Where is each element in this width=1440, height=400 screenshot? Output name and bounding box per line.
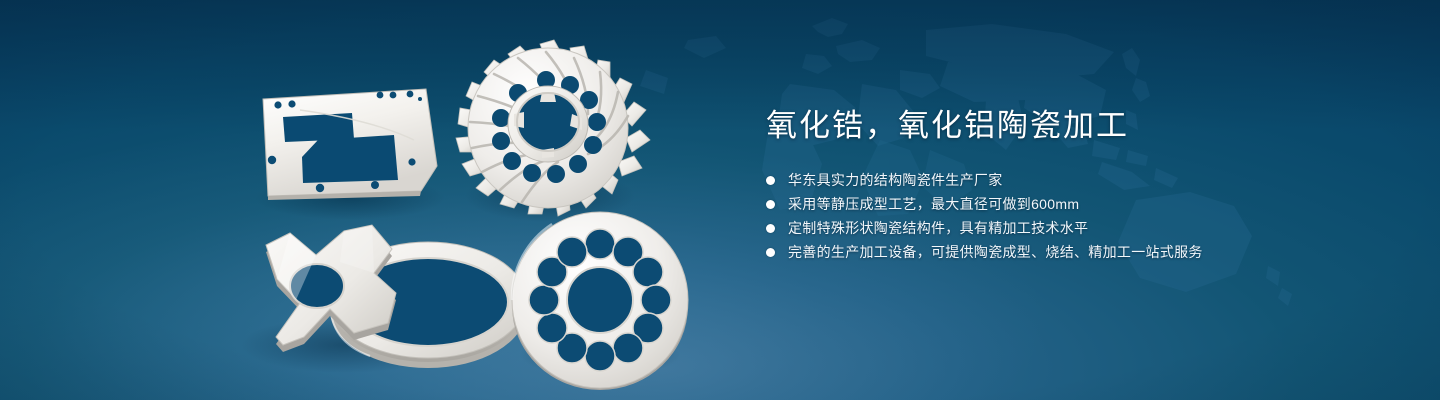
ceramic-plate-part <box>263 89 437 200</box>
bullet-dot-icon <box>766 176 775 185</box>
bullet-dot-icon <box>766 224 775 233</box>
list-item: 华东具实力的结构陶瓷件生产厂家 <box>766 168 1366 192</box>
list-item-label: 定制特殊形状陶瓷结构件，具有精加工技术水平 <box>788 216 1088 240</box>
list-item: 采用等静压成型工艺，最大直径可做到600mm <box>766 192 1366 216</box>
promo-banner: 氧化锆，氧化铝陶瓷加工 华东具实力的结构陶瓷件生产厂家 采用等静压成型工艺，最大… <box>0 0 1440 400</box>
bullet-dot-icon <box>766 200 775 209</box>
list-item: 定制特殊形状陶瓷结构件，具有精加工技术水平 <box>766 216 1366 240</box>
list-item: 完善的生产加工设备，可提供陶瓷成型、烧结、精加工一站式服务 <box>766 240 1366 264</box>
list-item-label: 采用等静压成型工艺，最大直径可做到600mm <box>788 192 1079 216</box>
list-item-label: 华东具实力的结构陶瓷件生产厂家 <box>788 168 1003 192</box>
feature-list: 华东具实力的结构陶瓷件生产厂家 采用等静压成型工艺，最大直径可做到600mm 定… <box>766 168 1366 264</box>
list-item-label: 完善的生产加工设备，可提供陶瓷成型、烧结、精加工一站式服务 <box>788 240 1203 264</box>
ceramic-perforated-disc-part <box>512 212 688 390</box>
banner-copy: 氧化锆，氧化铝陶瓷加工 华东具实力的结构陶瓷件生产厂家 采用等静压成型工艺，最大… <box>766 104 1366 264</box>
bullet-dot-icon <box>766 248 775 257</box>
ceramic-parts-photo <box>0 0 760 400</box>
page-title: 氧化锆，氧化铝陶瓷加工 <box>766 104 1366 148</box>
